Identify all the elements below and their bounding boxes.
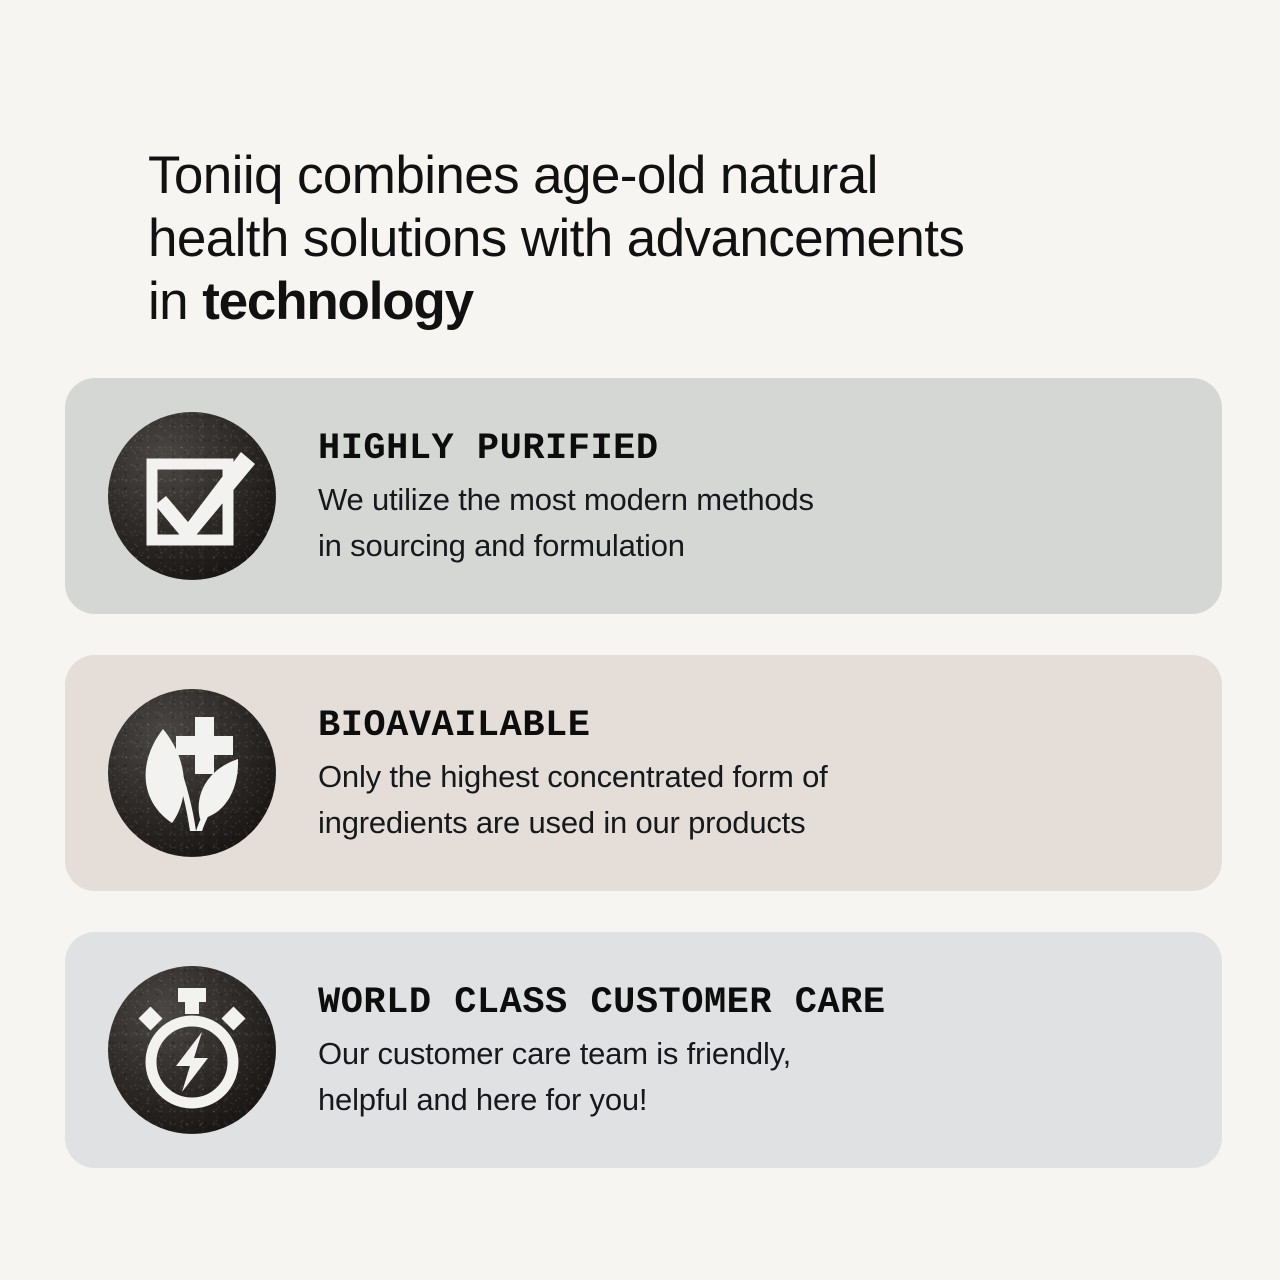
feature-card-bioavailable: BIOAVAILABLE Only the highest concentrat… (65, 655, 1222, 891)
stopwatch-bolt-icon (108, 966, 276, 1134)
feature-card-text: BIOAVAILABLE Only the highest concentrat… (318, 700, 1222, 846)
headline-line-1: Toniiq combines age-old natural (148, 144, 1078, 207)
feature-card-description-line-2: in sourcing and formulation (318, 523, 1222, 569)
headline-line-3-prefix: in (148, 272, 202, 331)
feature-card-title: BIOAVAILABLE (318, 704, 1222, 748)
leaf-plus-icon (108, 689, 276, 857)
feature-card-description: Our customer care team is friendly, help… (318, 1031, 1222, 1123)
marketing-feature-panel: Toniiq combines age-old natural health s… (0, 0, 1280, 1280)
feature-card-world-class-customer-care: WORLD CLASS CUSTOMER CARE Our customer c… (65, 932, 1222, 1168)
headline-line-3: in technology (148, 270, 1078, 333)
checkbox-check-icon (108, 412, 276, 580)
feature-card-text: WORLD CLASS CUSTOMER CARE Our customer c… (318, 977, 1222, 1123)
feature-card-title: HIGHLY PURIFIED (318, 427, 1222, 471)
feature-card-highly-purified: HIGHLY PURIFIED We utilize the most mode… (65, 378, 1222, 614)
feature-card-description-line-2: ingredients are used in our products (318, 800, 1222, 846)
feature-card-description-line-1: We utilize the most modern methods (318, 477, 1222, 523)
feature-card-description-line-2: helpful and here for you! (318, 1077, 1222, 1123)
page-title: Toniiq combines age-old natural health s… (148, 144, 1078, 333)
feature-card-text: HIGHLY PURIFIED We utilize the most mode… (318, 423, 1222, 569)
feature-card-description-line-1: Only the highest concentrated form of (318, 754, 1222, 800)
headline-line-2: health solutions with advancements (148, 207, 1078, 270)
headline-emphasis: technology (202, 272, 473, 331)
feature-card-description: We utilize the most modern methods in so… (318, 477, 1222, 569)
feature-card-list: HIGHLY PURIFIED We utilize the most mode… (65, 378, 1222, 1168)
feature-card-description-line-1: Our customer care team is friendly, (318, 1031, 1222, 1077)
feature-card-title: WORLD CLASS CUSTOMER CARE (318, 981, 1222, 1025)
feature-card-description: Only the highest concentrated form of in… (318, 754, 1222, 846)
